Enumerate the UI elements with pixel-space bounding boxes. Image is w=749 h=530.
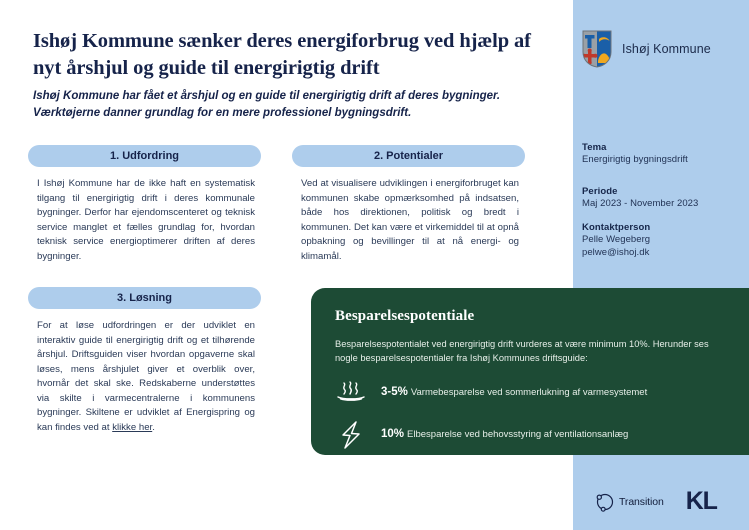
card-loesning: 3. Løsning For at løse udfordringen er d… — [28, 287, 261, 436]
meta-label-kontaktperson: Kontaktperson — [582, 222, 744, 233]
meta-value-tema: Energirigtig bygningsdrift — [582, 154, 744, 167]
page-title: Ishøj Kommune sænker deres energiforbrug… — [33, 28, 533, 81]
kl-logo: KL — [686, 487, 717, 516]
meta-label-periode: Periode — [582, 186, 744, 197]
card-udfordring: 1. Udfordring I Ishøj Kommune har de ikk… — [28, 145, 261, 264]
municipality-name: Ishøj Kommune — [622, 42, 711, 56]
card-body-loesning-text: For at løse udfordringen er der udviklet… — [37, 320, 255, 433]
card-potentialer: 2. Potentialer Ved at visualisere udvikl… — [292, 145, 525, 264]
meta-label-tema: Tema — [582, 142, 744, 153]
card-body-udfordring: I Ishøj Kommune har de ikke haft en syst… — [28, 177, 261, 264]
card-body-loesning-tail: . — [152, 422, 155, 433]
municipality-logo-row: Ishøj Kommune — [582, 30, 711, 68]
transition-logo: Transition — [595, 492, 664, 512]
savings-label-heat: Varmebesparelse ved sommerlukning af var… — [411, 387, 647, 398]
ishoj-coat-of-arms-icon — [582, 30, 612, 68]
transition-circle-logo-icon — [595, 492, 615, 512]
card-title-loesning: 3. Løsning — [28, 287, 261, 309]
savings-item-electricity: 10%Elbesparelse ved behovsstyring af ven… — [335, 420, 729, 450]
savings-title: Besparelsespotentiale — [335, 308, 729, 325]
card-title-udfordring: 1. Udfordring — [28, 145, 261, 167]
footer-logo-row: Transition KL — [595, 487, 717, 516]
savings-potential-panel: Besparelsespotentiale Besparelsespotenti… — [311, 288, 749, 455]
savings-label-electricity: Elbesparelse ved behovsstyring af ventil… — [407, 429, 628, 440]
savings-text-heat: 3-5%Varmebesparelse ved sommerlukning af… — [381, 385, 647, 400]
card-body-loesning: For at løse udfordringen er der udviklet… — [28, 319, 261, 436]
savings-text-electricity: 10%Elbesparelse ved behovsstyring af ven… — [381, 427, 628, 442]
meta-value-contact-email[interactable]: pelwe@ishoj.dk — [582, 247, 744, 260]
page-subtitle: Ishøj Kommune har fået et årshjul og en … — [33, 88, 528, 123]
lightning-bolt-icon — [335, 420, 367, 450]
transition-label: Transition — [619, 496, 664, 508]
meta-value-periode: Maj 2023 - November 2023 — [582, 198, 744, 211]
heat-waves-icon — [335, 378, 367, 408]
savings-percent-heat: 3-5% — [381, 386, 408, 398]
card-body-potentialer: Ved at visualisere udviklingen i energif… — [292, 177, 525, 264]
meta-block-kontaktperson: Kontaktperson Pelle Wegeberg pelwe@ishoj… — [582, 222, 744, 260]
meta-block-tema: Tema Energirigtig bygningsdrift — [582, 142, 744, 167]
meta-value-contact-name: Pelle Wegeberg — [582, 234, 744, 247]
meta-block-periode: Periode Maj 2023 - November 2023 — [582, 186, 744, 211]
klikke-her-link[interactable]: klikke her — [112, 422, 152, 433]
savings-intro: Besparelsespotentialet ved energirigtig … — [335, 337, 725, 366]
card-title-potentialer: 2. Potentialer — [292, 145, 525, 167]
savings-percent-electricity: 10% — [381, 428, 404, 440]
savings-item-heat: 3-5%Varmebesparelse ved sommerlukning af… — [335, 378, 729, 408]
